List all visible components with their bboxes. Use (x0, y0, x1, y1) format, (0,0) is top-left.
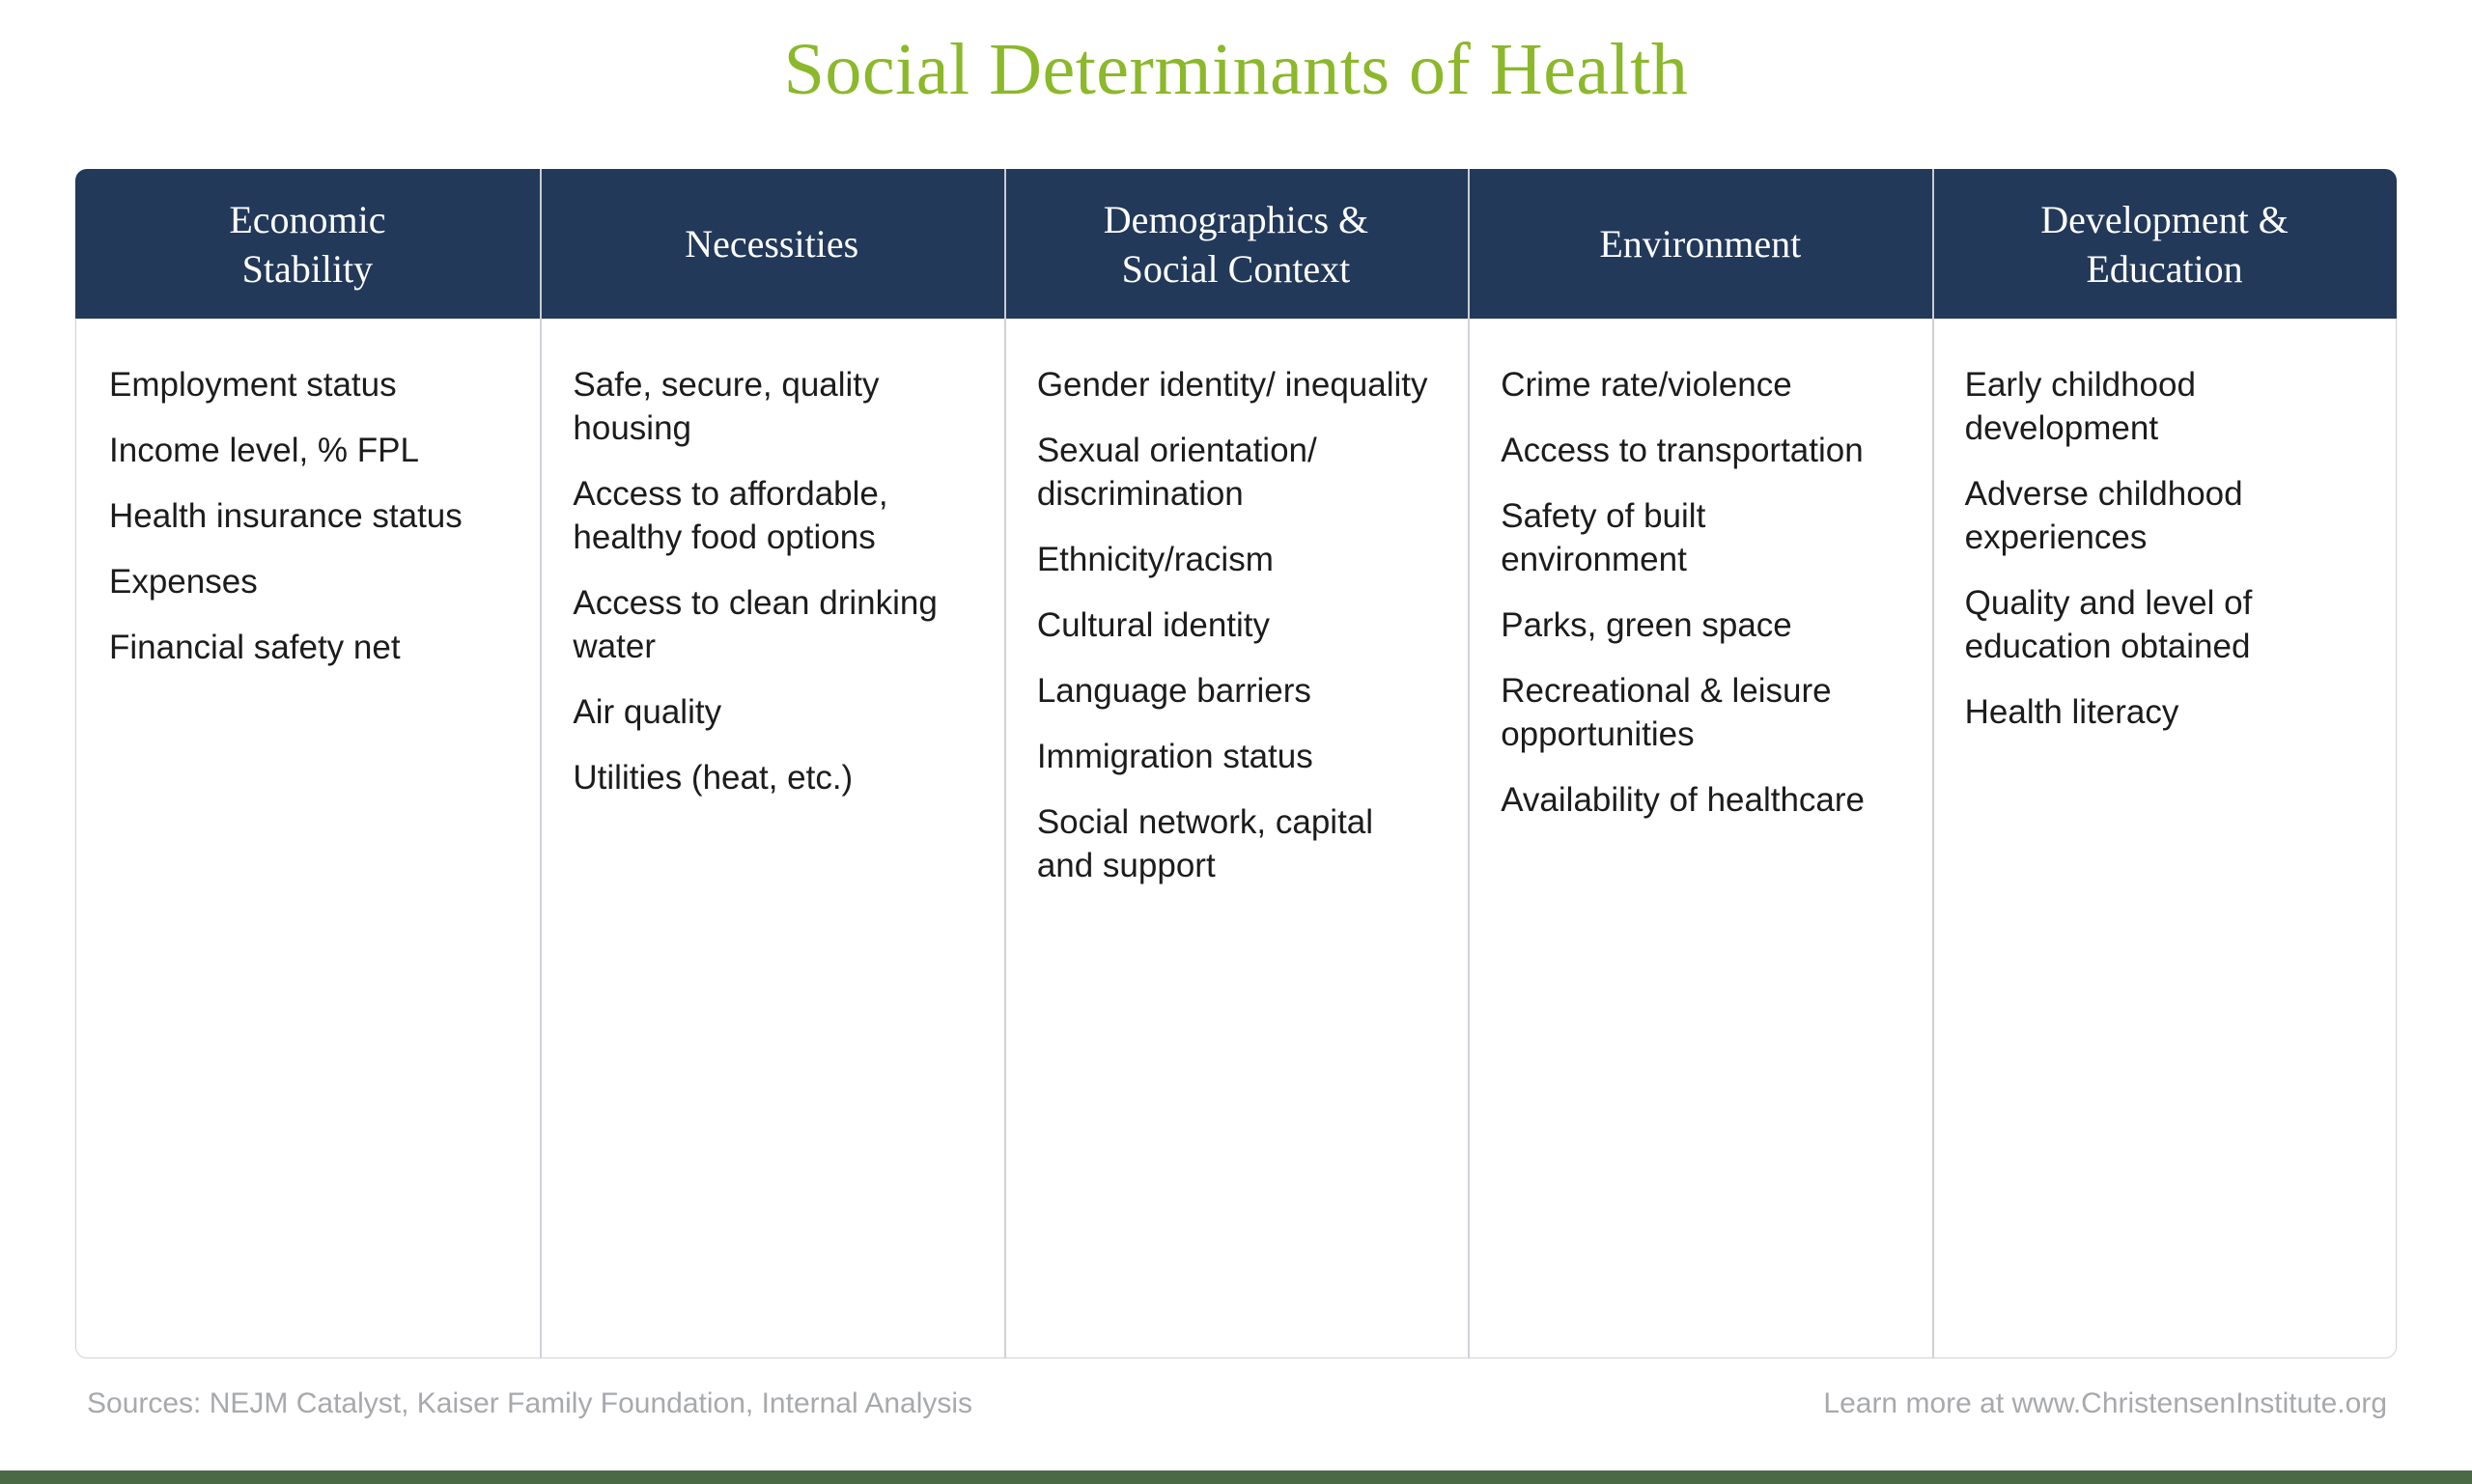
column-header-environment: Environment (1468, 169, 1932, 319)
column-header-demographics-social-context: Demographics & Social Context (1004, 169, 1469, 319)
header-line-2: Stability (242, 247, 374, 291)
list-item: Safety of built environment (1501, 494, 1898, 581)
list-item: Health insurance status (109, 494, 507, 538)
list-item: Cultural identity (1037, 603, 1435, 647)
list-item: Adverse childhood experiences (1965, 472, 2363, 559)
sources-text: Sources: NEJM Catalyst, Kaiser Family Fo… (87, 1385, 972, 1423)
table-header-row: Economic Stability Necessities Demograph… (75, 169, 2397, 319)
list-item: Parks, green space (1501, 603, 1898, 647)
header-line-1: Environment (1599, 219, 1801, 268)
column-header-development-education: Development & Education (1932, 169, 2397, 319)
list-item: Health literacy (1965, 690, 2363, 734)
page-title: Social Determinants of Health (0, 21, 2472, 118)
list-item: Sexual orientation/ discrimination (1037, 429, 1435, 516)
column-header-necessities: Necessities (540, 169, 1004, 319)
list-item: Immigration status (1037, 735, 1435, 778)
list-item: Quality and level of education obtained (1965, 581, 2363, 668)
column-header-economic-stability: Economic Stability (75, 169, 540, 319)
column-body-necessities: Safe, secure, quality housing Access to … (540, 319, 1003, 1358)
list-item: Income level, % FPL (109, 429, 507, 472)
list-item: Safe, secure, quality housing (573, 363, 970, 450)
determinants-table: Economic Stability Necessities Demograph… (75, 169, 2397, 1358)
column-body-demographics-social-context: Gender identity/ inequality Sexual orien… (1004, 319, 1468, 1358)
list-item: Access to transportation (1501, 429, 1898, 472)
column-body-environment: Crime rate/violence Access to transporta… (1468, 319, 1931, 1358)
list-item: Financial safety net (109, 626, 507, 669)
list-item: Language barriers (1037, 669, 1435, 713)
learn-more-text: Learn more at www.ChristensenInstitute.o… (1823, 1385, 2387, 1423)
table-body-row: Employment status Income level, % FPL He… (75, 319, 2397, 1358)
list-item: Recreational & leisure opportunities (1501, 669, 1898, 756)
bottom-accent-bar (0, 1470, 2472, 1484)
column-body-development-education: Early childhood development Adverse chil… (1932, 319, 2396, 1358)
header-line-1: Necessities (685, 219, 858, 268)
list-item: Availability of healthcare (1501, 778, 1898, 822)
list-item: Air quality (573, 690, 970, 734)
column-body-economic-stability: Employment status Income level, % FPL He… (76, 319, 540, 1358)
list-item: Utilities (heat, etc.) (573, 756, 970, 799)
list-item: Ethnicity/racism (1037, 538, 1435, 581)
infographic-page: Social Determinants of Health Economic S… (0, 0, 2472, 1484)
list-item: Expenses (109, 560, 507, 603)
list-item: Access to clean drinking water (573, 581, 970, 668)
header-line-1: Economic (229, 198, 385, 241)
list-item: Crime rate/violence (1501, 363, 1898, 406)
footer: Sources: NEJM Catalyst, Kaiser Family Fo… (0, 1375, 2472, 1433)
header-line-1: Development & (2040, 198, 2289, 241)
list-item: Employment status (109, 363, 507, 406)
list-item: Access to affordable, healthy food optio… (573, 472, 970, 559)
header-line-1: Demographics & (1104, 198, 1368, 241)
header-line-2: Social Context (1122, 247, 1351, 291)
header-line-2: Education (2087, 247, 2243, 291)
list-item: Gender identity/ inequality (1037, 363, 1435, 406)
list-item: Social network, capital and support (1037, 800, 1435, 887)
list-item: Early childhood development (1965, 363, 2363, 450)
